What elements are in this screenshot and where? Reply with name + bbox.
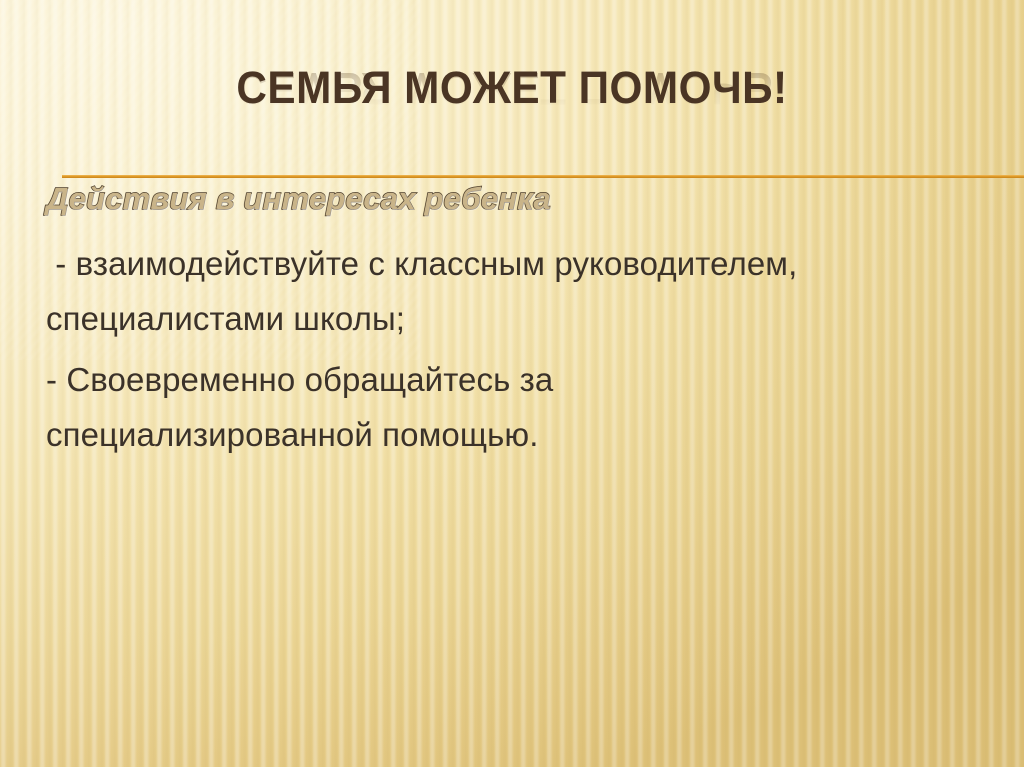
bullet-line: специализированной помощью. xyxy=(46,407,976,462)
content-heading: Действия в интересах ребенка xyxy=(46,178,976,220)
bullet-line: специалистами школы; xyxy=(46,291,976,346)
bullet-list: - взаимодействуйте с классным руководите… xyxy=(46,236,976,462)
slide-content: Действия в интересах ребенка - взаимодей… xyxy=(46,178,976,468)
presentation-slide: СЕМЬЯ МОЖЕТ ПОМОЧЬ! СЕМЬЯ МОЖЕТ ПОМОЧЬ! … xyxy=(0,0,1024,767)
bullet-line: - взаимодействуйте с классным руководите… xyxy=(46,236,976,291)
bullet-item: - Своевременно обращайтесь за специализи… xyxy=(46,352,976,462)
bullet-line: - Своевременно обращайтесь за xyxy=(46,352,976,407)
bullet-item: - взаимодействуйте с классным руководите… xyxy=(46,236,976,346)
